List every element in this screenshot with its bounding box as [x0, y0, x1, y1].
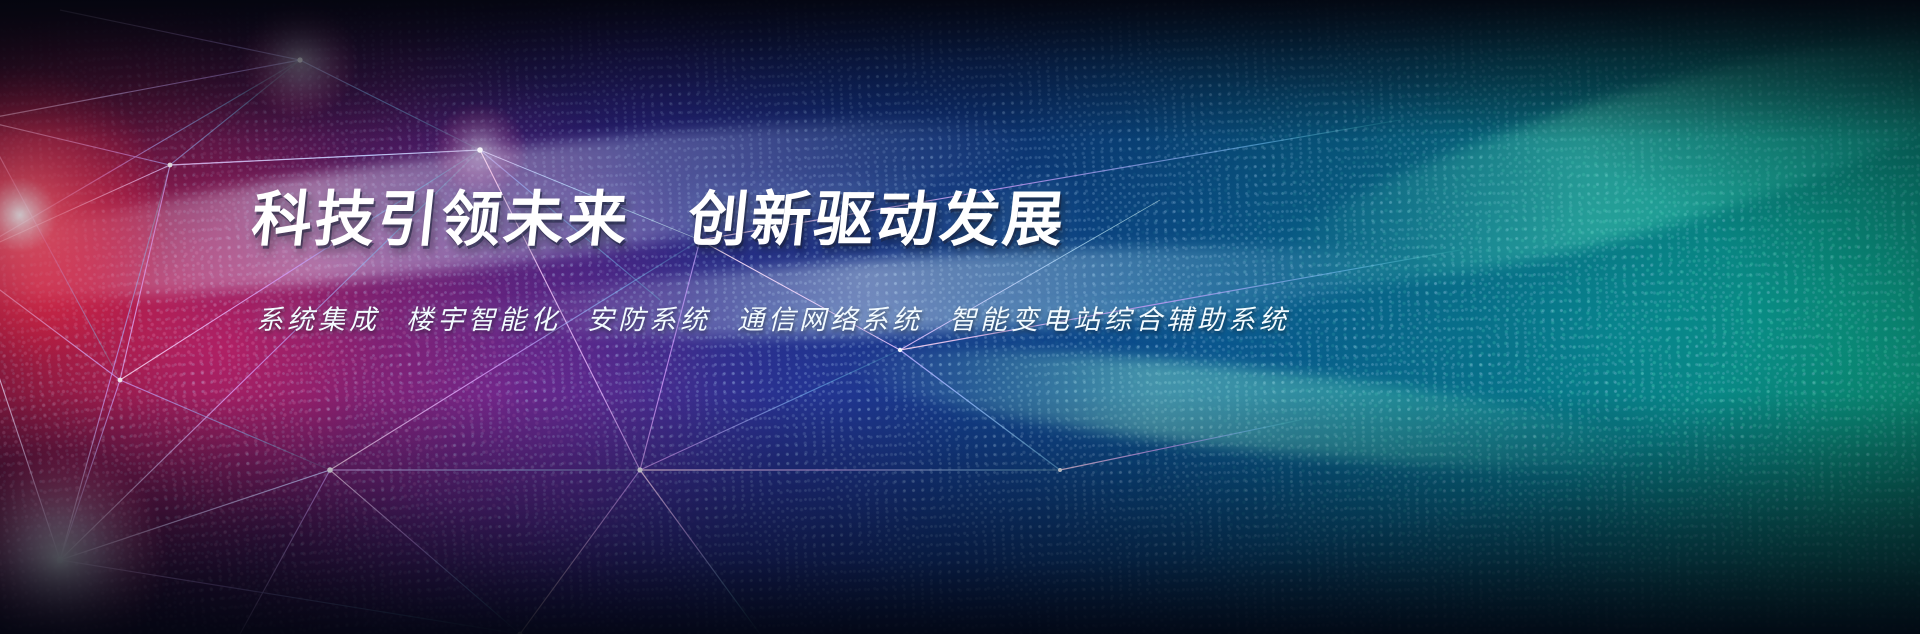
- headline-part-2: 创新驱动发展: [684, 185, 1069, 255]
- page-title: 科技引领未来创新驱动发展: [249, 188, 1436, 253]
- banner-copy: 科技引领未来创新驱动发展 系统集成楼宇智能化安防系统通信网络系统智能变电站综合辅…: [252, 188, 1432, 337]
- ridge-lower-right: [843, 326, 1654, 492]
- hero-banner: 科技引领未来创新驱动发展 系统集成楼宇智能化安防系统通信网络系统智能变电站综合辅…: [0, 0, 1920, 634]
- service-list: 系统集成楼宇智能化安防系统通信网络系统智能变电站综合辅助系统: [256, 305, 1432, 337]
- service-item-3: 安防系统: [587, 305, 711, 336]
- headline-part-1: 科技引领未来: [248, 185, 633, 255]
- service-item-2: 楼宇智能化: [406, 305, 561, 336]
- service-item-5: 智能变电站综合辅助系统: [949, 305, 1290, 336]
- service-item-4: 通信网络系统: [737, 305, 923, 336]
- service-item-1: 系统集成: [256, 305, 380, 336]
